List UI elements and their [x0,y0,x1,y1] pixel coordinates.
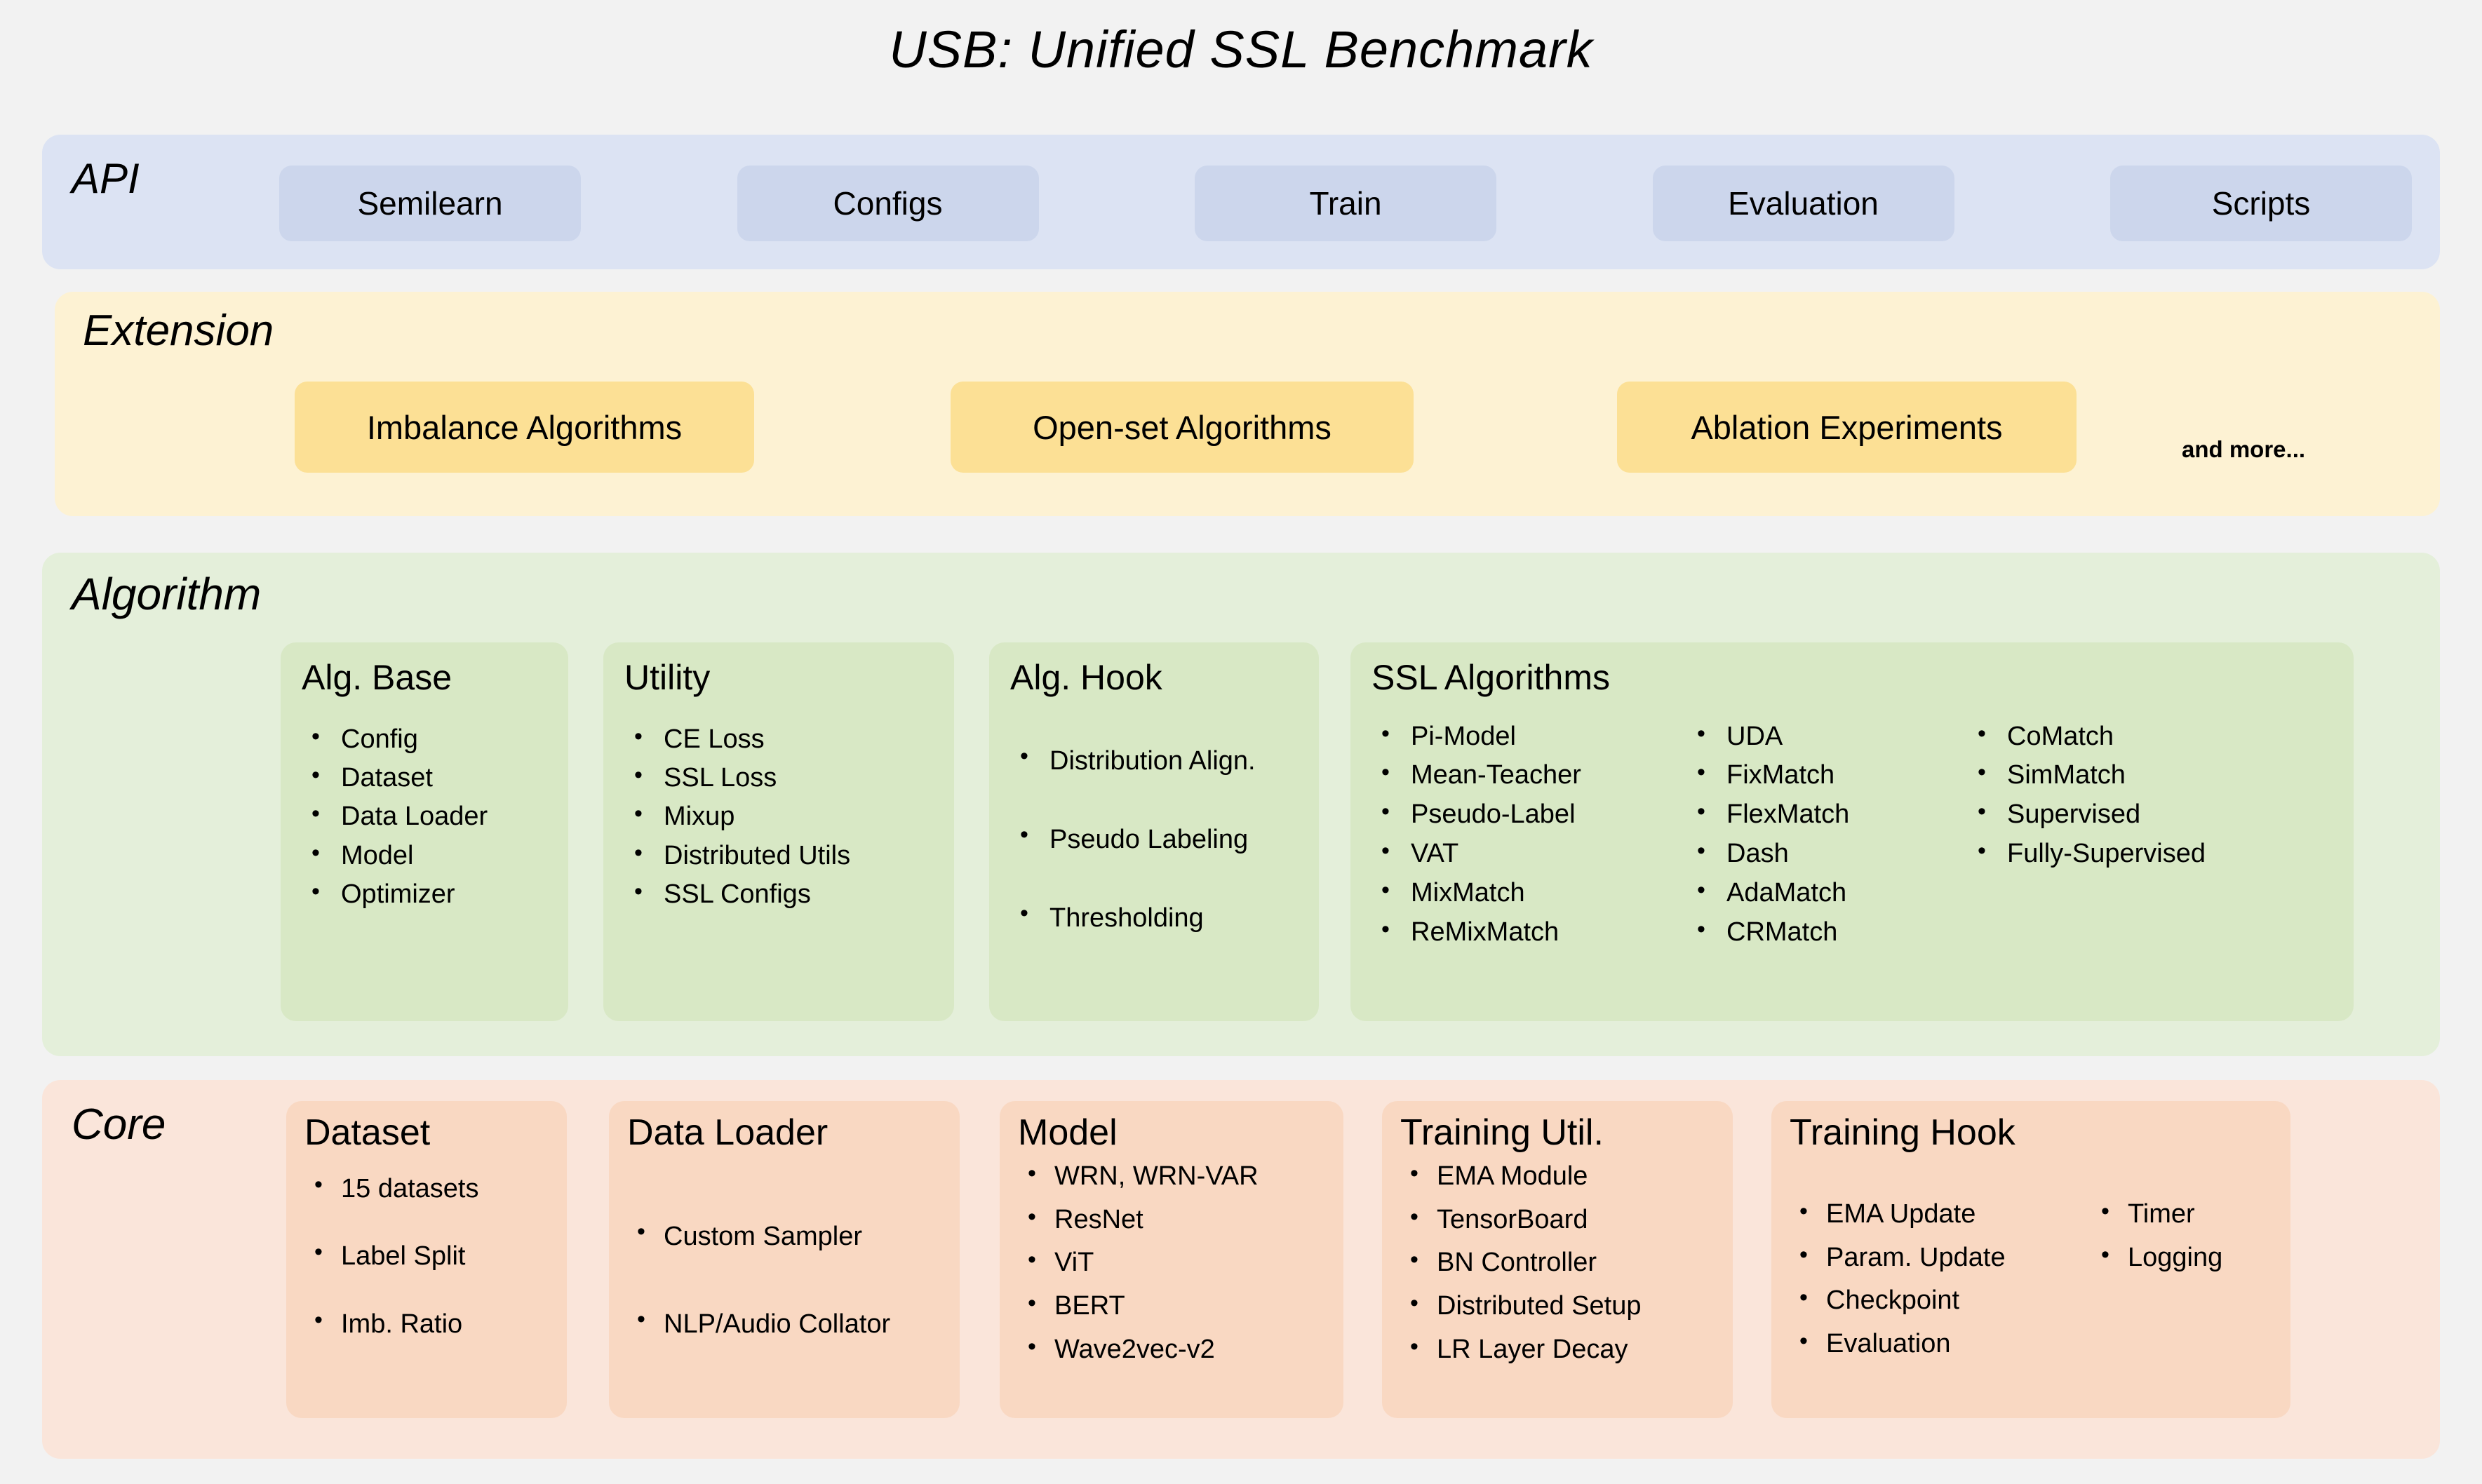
algorithm-card-utility[interactable]: Utility CE Loss SSL Loss Mixup Distribut… [603,642,954,1021]
list-item: Optimizer [302,875,550,914]
card-title: Data Loader [627,1114,944,1152]
list-item: SimMatch [1968,756,2333,795]
page-title: USB: Unified SSL Benchmark [0,20,2482,79]
bullet-list: EMA Module TensorBoard BN Controller Dis… [1400,1155,1717,1372]
api-layer-label: API [72,154,140,203]
list-item: CE Loss [624,720,936,759]
extension-card-imbalance-algorithms[interactable]: Imbalance Algorithms [295,382,754,473]
list-item: FlexMatch [1687,795,1968,835]
api-card-scripts[interactable]: Scripts [2110,166,2412,241]
list-item: WRN, WRN-VAR [1018,1155,1328,1199]
list-item: EMA Module [1400,1155,1717,1199]
list-item: Distributed Utils [624,837,936,875]
algorithm-card-alg-base[interactable]: Alg. Base Config Dataset Data Loader Mod… [281,642,568,1021]
card-title: Training Hook [1790,1114,2275,1152]
list-item: Distributed Setup [1400,1285,1717,1328]
bullet-list: EMA Update Param. Update Checkpoint Eval… [1790,1193,2091,1367]
list-item: Dash [1687,835,1968,874]
extension-card-row: Imbalance Algorithms Open-set Algorithms… [239,382,2378,473]
core-card-model[interactable]: Model WRN, WRN-VAR ResNet ViT BERT Wave2… [1000,1101,1343,1418]
core-card-dataset[interactable]: Dataset 15 datasets Label Split Imb. Rat… [286,1101,567,1418]
bullet-list: UDA FixMatch FlexMatch Dash AdaMatch CRM… [1687,717,1968,952]
training-hook-column-2: Timer Logging [2091,1193,2274,1367]
list-item: NLP/Audio Collator [627,1281,944,1368]
list-item: SSL Loss [624,759,936,797]
bullet-list: Config Dataset Data Loader Model Optimiz… [302,720,550,915]
list-item: LR Layer Decay [1400,1328,1717,1372]
list-item: Checkpoint [1790,1279,2091,1323]
list-item: Distribution Align. [1010,722,1301,800]
list-item: Fully-Supervised [1968,835,2333,874]
list-item: UDA [1687,717,1968,757]
list-item: ResNet [1018,1199,1328,1242]
bullet-list: 15 datasets Label Split Imb. Ratio [304,1155,551,1359]
list-item: Mixup [624,797,936,836]
training-hook-columns: EMA Update Param. Update Checkpoint Eval… [1790,1193,2275,1367]
extension-layer-label: Extension [83,306,274,356]
card-title: Utility [624,659,936,696]
list-item: 15 datasets [304,1155,551,1223]
api-card-train[interactable]: Train [1195,166,1496,241]
list-item: Logging [2091,1236,2274,1280]
card-title: Training Util. [1400,1114,1717,1152]
bullet-list: WRN, WRN-VAR ResNet ViT BERT Wave2vec-v2 [1018,1155,1328,1372]
bullet-list: Distribution Align. Pseudo Labeling Thre… [1010,722,1301,957]
list-item: FixMatch [1687,756,1968,795]
list-item: TensorBoard [1400,1199,1717,1242]
extension-card-ablation-experiments[interactable]: Ablation Experiments [1617,382,2077,473]
list-item: CoMatch [1968,717,2333,757]
list-item: Label Split [304,1222,551,1290]
list-item: CRMatch [1687,913,1968,952]
list-item: MixMatch [1371,874,1687,913]
list-item: Supervised [1968,795,2333,835]
core-layer-band: Core Dataset 15 datasets Label Split Imb… [42,1080,2440,1459]
algorithm-card-ssl-algorithms[interactable]: SSL Algorithms Pi-Model Mean-Teacher Pse… [1350,642,2354,1021]
bullet-list: CE Loss SSL Loss Mixup Distributed Utils… [624,720,936,915]
list-item: Mean-Teacher [1371,756,1687,795]
list-item: Custom Sampler [627,1193,944,1281]
core-layer-label: Core [72,1100,166,1149]
training-hook-column-1: EMA Update Param. Update Checkpoint Eval… [1790,1193,2091,1367]
bullet-list: Pi-Model Mean-Teacher Pseudo-Label VAT M… [1371,717,1687,952]
card-title: Model [1018,1114,1328,1152]
card-title: Dataset [304,1114,551,1152]
list-item: Config [302,720,550,759]
ssl-algorithm-column-3: CoMatch SimMatch Supervised Fully-Superv… [1968,717,2333,952]
extension-layer-band: Extension Imbalance Algorithms Open-set … [55,292,2440,516]
ssl-algorithm-columns: Pi-Model Mean-Teacher Pseudo-Label VAT M… [1371,717,2335,952]
list-item: BN Controller [1400,1241,1717,1285]
card-title: Alg. Hook [1010,659,1301,696]
diagram-canvas: USB: Unified SSL Benchmark API Semilearn… [0,0,2482,1484]
list-item: EMA Update [1790,1193,2091,1236]
algorithm-card-alg-hook[interactable]: Alg. Hook Distribution Align. Pseudo Lab… [989,642,1319,1021]
list-item: SSL Configs [624,875,936,914]
bullet-list: Timer Logging [2091,1193,2274,1280]
extension-card-open-set-algorithms[interactable]: Open-set Algorithms [951,382,1414,473]
list-item: BERT [1018,1285,1328,1328]
api-layer-band: API Semilearn Configs Train Evaluation S… [42,135,2440,269]
list-item: Wave2vec-v2 [1018,1328,1328,1372]
list-item: AdaMatch [1687,874,1968,913]
api-card-row: Semilearn Configs Train Evaluation Scrip… [279,166,2412,241]
list-item: Pi-Model [1371,717,1687,757]
api-card-semilearn[interactable]: Semilearn [279,166,581,241]
bullet-list: Custom Sampler NLP/Audio Collator [627,1193,944,1369]
list-item: Imb. Ratio [304,1290,551,1358]
card-title: Alg. Base [302,659,550,696]
list-item: Model [302,837,550,875]
list-item: Evaluation [1790,1323,2091,1366]
core-card-training-hook[interactable]: Training Hook EMA Update Param. Update C… [1771,1101,2290,1418]
api-card-configs[interactable]: Configs [737,166,1039,241]
list-item: Param. Update [1790,1236,2091,1280]
list-item: Pseudo Labeling [1010,800,1301,879]
algorithm-layer-band: Algorithm Alg. Base Config Dataset Data … [42,553,2440,1056]
list-item: Thresholding [1010,879,1301,957]
ssl-algorithm-column-2: UDA FixMatch FlexMatch Dash AdaMatch CRM… [1687,717,1968,952]
algorithm-layer-label: Algorithm [72,568,261,620]
extension-and-more-label: and more... [2182,436,2305,463]
list-item: ViT [1018,1241,1328,1285]
list-item: Pseudo-Label [1371,795,1687,835]
card-title: SSL Algorithms [1371,659,2335,696]
list-item: Timer [2091,1193,2274,1236]
ssl-algorithm-column-1: Pi-Model Mean-Teacher Pseudo-Label VAT M… [1371,717,1687,952]
api-card-evaluation[interactable]: Evaluation [1653,166,1954,241]
core-card-data-loader[interactable]: Data Loader Custom Sampler NLP/Audio Col… [609,1101,960,1418]
core-card-training-util[interactable]: Training Util. EMA Module TensorBoard BN… [1382,1101,1733,1418]
list-item: ReMixMatch [1371,913,1687,952]
bullet-list: CoMatch SimMatch Supervised Fully-Superv… [1968,717,2333,874]
list-item: Dataset [302,759,550,797]
list-item: Data Loader [302,797,550,836]
list-item: VAT [1371,835,1687,874]
